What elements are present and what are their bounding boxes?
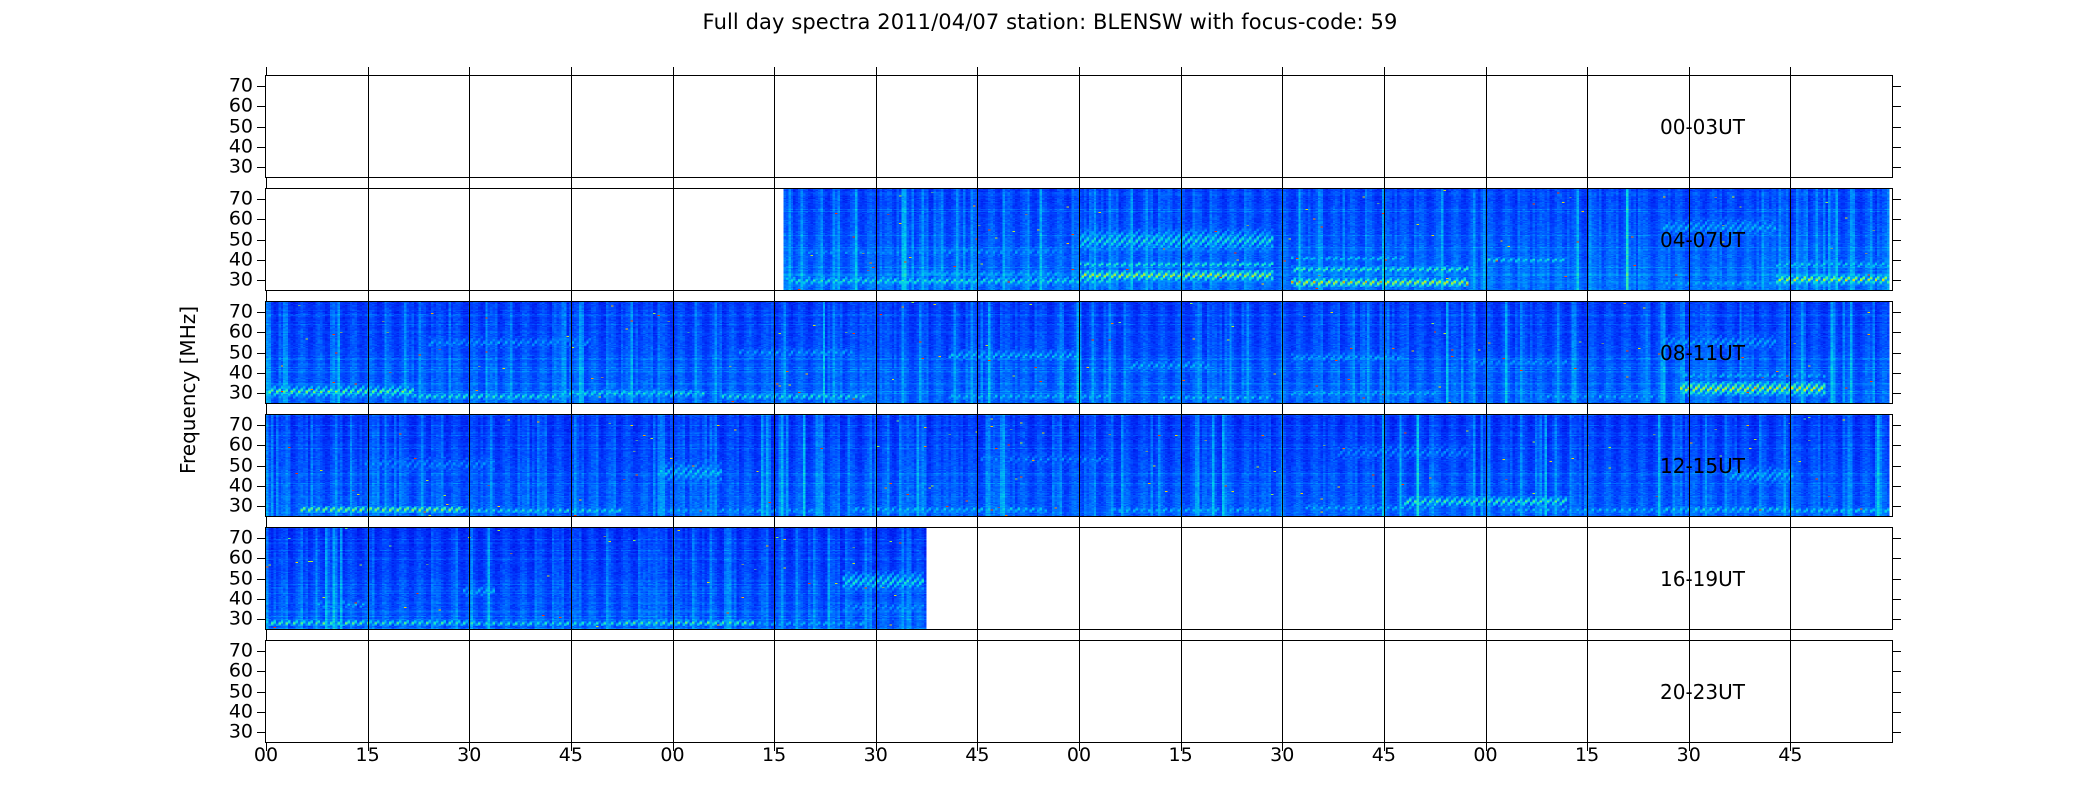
panel-divider: [1587, 189, 1588, 290]
row-time-label: 16-19UT: [1660, 567, 1745, 591]
row-time-label: 20-23UT: [1660, 680, 1745, 704]
x-axis-tick: [469, 519, 470, 528]
x-axis-tick-label: 30: [457, 746, 481, 765]
y-axis-tick-label: 60: [229, 436, 253, 455]
y-axis-tick: [1892, 506, 1901, 507]
x-axis-tick: [1384, 67, 1385, 76]
row-time-label: 08-11UT: [1660, 341, 1745, 365]
panel-divider: [774, 528, 775, 629]
panel-divider: [774, 415, 775, 516]
x-axis-tick: [1689, 406, 1690, 415]
spectrogram-row[interactable]: 7060504030: [265, 301, 1893, 404]
x-axis-tick: [673, 406, 674, 415]
spectrogram-panel[interactable]: 7060504030: [265, 188, 1893, 291]
x-axis-tick: [673, 293, 674, 302]
x-axis-tick: [876, 406, 877, 415]
x-axis-tick: [1587, 632, 1588, 641]
y-axis-tick: [1892, 167, 1901, 168]
y-axis-tick: [1892, 127, 1901, 128]
panel-divider: [1282, 76, 1283, 177]
y-axis-tick-label: 50: [229, 230, 253, 249]
y-axis-tick: [1892, 732, 1901, 733]
x-axis-tick: [1587, 519, 1588, 528]
panel-divider: [368, 189, 369, 290]
panel-divider: [1587, 528, 1588, 629]
x-axis-tick: [1790, 632, 1791, 641]
y-axis-tick: [1892, 692, 1901, 693]
panel-divider: [469, 415, 470, 516]
y-axis-tick-label: 70: [229, 303, 253, 322]
x-axis-tick: [876, 293, 877, 302]
x-axis-tick: [977, 67, 978, 76]
x-axis-tick-label: 45: [559, 746, 583, 765]
panel-divider: [977, 302, 978, 403]
panel-divider: [1282, 189, 1283, 290]
y-axis-tick-label: 70: [229, 190, 253, 209]
panel-divider: [368, 415, 369, 516]
panel-divider: [673, 528, 674, 629]
y-axis-tick: [1892, 599, 1901, 600]
y-axis-tick: [257, 332, 266, 333]
y-axis-tick-label: 70: [229, 77, 253, 96]
x-axis-tick: [1790, 67, 1791, 76]
x-axis-tick: [571, 406, 572, 415]
y-axis-tick-label: 50: [229, 682, 253, 701]
y-axis-tick: [1892, 86, 1901, 87]
panel-divider: [1587, 641, 1588, 742]
x-axis-tick-label: 15: [1575, 746, 1599, 765]
spectrogram-row[interactable]: 7060504030: [265, 527, 1893, 630]
x-axis-tick: [571, 519, 572, 528]
y-axis-tick: [257, 712, 266, 713]
panel-divider: [876, 641, 877, 742]
x-axis-tick: [1181, 406, 1182, 415]
panel-divider: [571, 415, 572, 516]
x-axis-tick: [1282, 519, 1283, 528]
x-axis-tick-label: 15: [762, 746, 786, 765]
panel-divider: [1790, 302, 1791, 403]
y-axis-tick: [257, 147, 266, 148]
x-axis-tick: [368, 180, 369, 189]
y-axis-tick: [257, 692, 266, 693]
panel-divider: [1790, 641, 1791, 742]
panel-divider: [469, 528, 470, 629]
y-axis-tick-label: 40: [229, 137, 253, 156]
y-axis-tick: [1892, 219, 1901, 220]
x-axis-tick: [774, 180, 775, 189]
panel-divider: [1079, 415, 1080, 516]
panel-divider: [571, 641, 572, 742]
x-axis-tick: [266, 632, 267, 641]
panel-divider: [977, 415, 978, 516]
y-axis-tick-label: 30: [229, 496, 253, 515]
x-axis-tick: [1689, 67, 1690, 76]
panel-divider: [673, 641, 674, 742]
panel-divider: [774, 76, 775, 177]
panel-divider: [1587, 415, 1588, 516]
x-axis-tick: [774, 293, 775, 302]
x-axis-tick-label: 15: [1169, 746, 1193, 765]
x-axis-tick: [1384, 632, 1385, 641]
panel-divider: [571, 189, 572, 290]
y-axis-tick-label: 30: [229, 157, 253, 176]
y-axis-tick: [257, 199, 266, 200]
x-axis-tick: [876, 180, 877, 189]
y-axis-tick: [257, 445, 266, 446]
y-axis-tick-label: 30: [229, 270, 253, 289]
x-axis-tick-label: 45: [965, 746, 989, 765]
y-axis-tick: [257, 619, 266, 620]
y-axis-tick: [257, 506, 266, 507]
y-axis-tick-label: 50: [229, 456, 253, 475]
y-axis-tick: [257, 466, 266, 467]
x-axis-tick-label: 30: [1677, 746, 1701, 765]
y-axis-tick: [257, 219, 266, 220]
y-axis-tick-label: 60: [229, 549, 253, 568]
y-axis-tick: [257, 425, 266, 426]
x-axis-tick: [1790, 519, 1791, 528]
y-axis-tick-label: 60: [229, 662, 253, 681]
y-axis-tick: [257, 558, 266, 559]
y-axis-tick-label: 40: [229, 476, 253, 495]
y-axis-tick-label: 70: [229, 529, 253, 548]
x-axis-tick: [1384, 519, 1385, 528]
y-axis-tick: [1892, 332, 1901, 333]
x-axis-tick: [1079, 519, 1080, 528]
y-axis-tick: [257, 373, 266, 374]
x-axis-tick: [266, 293, 267, 302]
panel-divider: [368, 76, 369, 177]
y-axis-tick: [1892, 353, 1901, 354]
panel-divider: [368, 641, 369, 742]
panel-divider: [1384, 302, 1385, 403]
y-axis-tick: [257, 260, 266, 261]
y-axis-tick: [1892, 393, 1901, 394]
y-axis-tick-label: 70: [229, 642, 253, 661]
panel-divider: [1486, 76, 1487, 177]
x-axis-tick: [368, 632, 369, 641]
x-axis-tick-label: 30: [864, 746, 888, 765]
x-axis-tick: [774, 67, 775, 76]
y-axis-tick-label: 50: [229, 343, 253, 362]
x-axis-tick: [977, 406, 978, 415]
panel-divider: [469, 641, 470, 742]
panel-divider: [876, 189, 877, 290]
x-axis-tick: [1384, 180, 1385, 189]
spectrogram-panel[interactable]: 7060504030: [265, 75, 1893, 178]
x-axis-tick: [1587, 293, 1588, 302]
y-axis-tick: [257, 106, 266, 107]
x-axis-tick: [1790, 406, 1791, 415]
x-axis-tick: [1689, 632, 1690, 641]
x-axis-tick: [1079, 180, 1080, 189]
x-axis-tick: [1790, 180, 1791, 189]
x-axis-tick: [1689, 519, 1690, 528]
x-axis-tick-label: 30: [1270, 746, 1294, 765]
x-axis-tick-label: 15: [356, 746, 380, 765]
panel-divider: [1790, 76, 1791, 177]
y-axis-tick: [1892, 106, 1901, 107]
x-axis-tick: [977, 293, 978, 302]
x-axis-tick: [1079, 67, 1080, 76]
y-axis-tick: [1892, 538, 1901, 539]
y-axis-tick: [1892, 619, 1901, 620]
panel-divider: [1790, 415, 1791, 516]
x-axis-tick: [469, 632, 470, 641]
spectrogram-panel[interactable]: 7060504030: [265, 301, 1893, 404]
y-axis-tick-label: 40: [229, 363, 253, 382]
y-axis-tick-label: 50: [229, 569, 253, 588]
y-axis-tick: [1892, 425, 1901, 426]
y-axis-tick: [257, 671, 266, 672]
x-axis-tick: [673, 519, 674, 528]
panel-divider: [1486, 189, 1487, 290]
y-axis-tick: [257, 127, 266, 128]
x-axis-tick: [266, 406, 267, 415]
x-axis-tick: [469, 67, 470, 76]
panel-divider: [673, 76, 674, 177]
x-axis-tick: [1486, 180, 1487, 189]
x-axis-tick: [368, 67, 369, 76]
panel-divider: [1384, 76, 1385, 177]
x-axis-tick: [1181, 293, 1182, 302]
y-axis-tick: [1892, 558, 1901, 559]
panel-divider: [1079, 302, 1080, 403]
x-axis-tick: [673, 180, 674, 189]
x-axis-tick: [774, 406, 775, 415]
y-axis-tick: [1892, 466, 1901, 467]
panel-divider: [1282, 302, 1283, 403]
x-axis-tick: [266, 519, 267, 528]
y-axis-tick-label: 50: [229, 117, 253, 136]
row-time-label: 12-15UT: [1660, 454, 1745, 478]
y-axis-tick: [1892, 260, 1901, 261]
panel-divider: [368, 302, 369, 403]
panel-divider: [673, 302, 674, 403]
y-axis-tick: [257, 486, 266, 487]
panel-divider: [876, 76, 877, 177]
y-axis-tick: [257, 599, 266, 600]
x-axis-tick: [1790, 293, 1791, 302]
panel-divider: [1790, 189, 1791, 290]
spectrogram-panel[interactable]: 7060504030: [265, 527, 1893, 630]
panel-divider: [1079, 76, 1080, 177]
x-axis-tick: [1282, 632, 1283, 641]
y-axis-tick-label: 30: [229, 722, 253, 741]
x-axis-tick-label: 00: [660, 746, 684, 765]
y-axis-tick: [257, 280, 266, 281]
panel-divider: [977, 189, 978, 290]
panel-divider: [469, 302, 470, 403]
x-axis-tick: [1282, 293, 1283, 302]
spectrogram-row[interactable]: 7060504030: [265, 188, 1893, 291]
y-axis-tick-label: 40: [229, 589, 253, 608]
panel-divider: [673, 415, 674, 516]
x-axis-tick: [977, 632, 978, 641]
spectrogram-panel[interactable]: 7060504030001530450015304500153045001530…: [265, 640, 1893, 743]
y-axis-tick: [257, 732, 266, 733]
x-axis-tick: [1181, 519, 1182, 528]
panel-divider: [1282, 528, 1283, 629]
y-axis-tick: [1892, 445, 1901, 446]
panel-divider: [1486, 302, 1487, 403]
x-axis-tick: [1486, 632, 1487, 641]
y-axis-tick: [1892, 312, 1901, 313]
panel-divider: [1384, 641, 1385, 742]
row-time-label: 04-07UT: [1660, 228, 1745, 252]
panel-divider: [469, 189, 470, 290]
x-axis-tick-label: 00: [1067, 746, 1091, 765]
x-axis-tick: [1486, 519, 1487, 528]
y-axis-label-text: Frequency [MHz]: [176, 250, 200, 530]
panel-divider: [774, 302, 775, 403]
x-axis-tick: [266, 67, 267, 76]
y-axis-tick-label: 40: [229, 250, 253, 269]
panel-divider: [1587, 302, 1588, 403]
panel-divider: [1181, 189, 1182, 290]
x-axis-tick: [774, 519, 775, 528]
y-axis-tick: [257, 651, 266, 652]
panel-divider: [1282, 415, 1283, 516]
y-axis-tick: [1892, 486, 1901, 487]
y-axis-tick: [257, 86, 266, 87]
x-axis-tick: [1079, 406, 1080, 415]
panel-divider: [1384, 528, 1385, 629]
panel-divider: [1486, 415, 1487, 516]
x-axis-tick-label: 00: [1473, 746, 1497, 765]
spectrogram-row[interactable]: 7060504030001530450015304500153045001530…: [265, 640, 1893, 743]
y-axis-tick: [1892, 579, 1901, 580]
x-axis-tick: [1587, 67, 1588, 76]
x-axis-tick: [1079, 293, 1080, 302]
x-axis-tick: [774, 632, 775, 641]
figure-title: Full day spectra 2011/04/07 station: BLE…: [0, 10, 2100, 34]
x-axis-tick: [876, 632, 877, 641]
panel-divider: [1181, 415, 1182, 516]
panel-divider: [1384, 189, 1385, 290]
panel-divider: [1181, 641, 1182, 742]
x-axis-tick: [1486, 293, 1487, 302]
x-axis-tick: [368, 293, 369, 302]
panel-divider: [977, 76, 978, 177]
x-axis-tick: [977, 519, 978, 528]
y-axis-tick: [257, 579, 266, 580]
x-axis-tick: [673, 67, 674, 76]
panel-divider: [876, 415, 877, 516]
x-axis-tick: [571, 293, 572, 302]
y-axis-tick: [1892, 712, 1901, 713]
x-axis-tick: [469, 293, 470, 302]
y-axis-tick-label: 70: [229, 416, 253, 435]
panel-divider: [774, 189, 775, 290]
y-axis-tick-label: 60: [229, 323, 253, 342]
panel-divider: [571, 76, 572, 177]
x-axis-tick: [673, 632, 674, 641]
panel-divider: [1181, 76, 1182, 177]
panel-divider: [1181, 528, 1182, 629]
y-axis-tick: [257, 393, 266, 394]
panel-divider: [876, 528, 877, 629]
x-axis-tick: [266, 180, 267, 189]
x-axis-tick: [571, 67, 572, 76]
spectrogram-row[interactable]: 7060504030: [265, 414, 1893, 517]
y-axis-tick: [1892, 240, 1901, 241]
x-axis-tick: [876, 67, 877, 76]
panel-divider: [1384, 415, 1385, 516]
panel-divider: [571, 528, 572, 629]
x-axis-tick: [1282, 180, 1283, 189]
panel-divider: [977, 528, 978, 629]
panel-divider: [1486, 641, 1487, 742]
panel-divider: [571, 302, 572, 403]
panel-divider: [1079, 189, 1080, 290]
x-axis-tick: [1384, 406, 1385, 415]
spectrogram-panel[interactable]: 7060504030: [265, 414, 1893, 517]
y-axis-tick: [1892, 199, 1901, 200]
y-axis-tick: [1892, 147, 1901, 148]
x-axis-tick: [1587, 180, 1588, 189]
panel-divider: [774, 641, 775, 742]
y-axis-tick: [257, 353, 266, 354]
y-axis-tick: [257, 240, 266, 241]
x-axis-tick: [1282, 406, 1283, 415]
x-axis-tick: [571, 632, 572, 641]
x-axis-tick: [571, 180, 572, 189]
x-axis-tick: [469, 180, 470, 189]
row-time-label: 00-03UT: [1660, 115, 1745, 139]
panel-divider: [469, 76, 470, 177]
x-axis-tick: [876, 519, 877, 528]
panel-divider: [1587, 76, 1588, 177]
spectrogram-row[interactable]: 7060504030: [265, 75, 1893, 178]
x-axis-tick: [1181, 632, 1182, 641]
x-axis-tick-label: 45: [1778, 746, 1802, 765]
x-axis-tick: [368, 406, 369, 415]
y-axis-tick: [1892, 373, 1901, 374]
x-axis-tick-label: 00: [254, 746, 278, 765]
y-axis-tick-label: 40: [229, 702, 253, 721]
x-axis-tick: [1486, 67, 1487, 76]
x-axis-tick: [1689, 293, 1690, 302]
x-axis-tick: [1587, 406, 1588, 415]
y-axis-tick-label: 60: [229, 210, 253, 229]
x-axis-tick: [1689, 180, 1690, 189]
y-axis-label: Frequency [MHz]: [176, 0, 206, 250]
x-axis-tick: [1282, 67, 1283, 76]
y-axis-tick-label: 30: [229, 609, 253, 628]
x-axis-tick: [368, 519, 369, 528]
y-axis-tick-label: 60: [229, 97, 253, 116]
x-axis-tick: [977, 180, 978, 189]
spectrogram-figure: Full day spectra 2011/04/07 station: BLE…: [0, 0, 2100, 800]
y-axis-tick: [257, 538, 266, 539]
panel-divider: [1079, 528, 1080, 629]
panel-divider: [1079, 641, 1080, 742]
y-axis-tick: [1892, 280, 1901, 281]
panel-divider: [977, 641, 978, 742]
panel-divider: [1282, 641, 1283, 742]
panel-divider: [876, 302, 877, 403]
x-axis-tick: [1079, 632, 1080, 641]
x-axis-tick-label: 45: [1372, 746, 1396, 765]
panel-divider: [1181, 302, 1182, 403]
y-axis-tick-label: 30: [229, 383, 253, 402]
x-axis-tick: [1181, 67, 1182, 76]
y-axis-tick: [1892, 651, 1901, 652]
x-axis-tick: [1384, 293, 1385, 302]
panel-divider: [1790, 528, 1791, 629]
y-axis-tick: [1892, 671, 1901, 672]
